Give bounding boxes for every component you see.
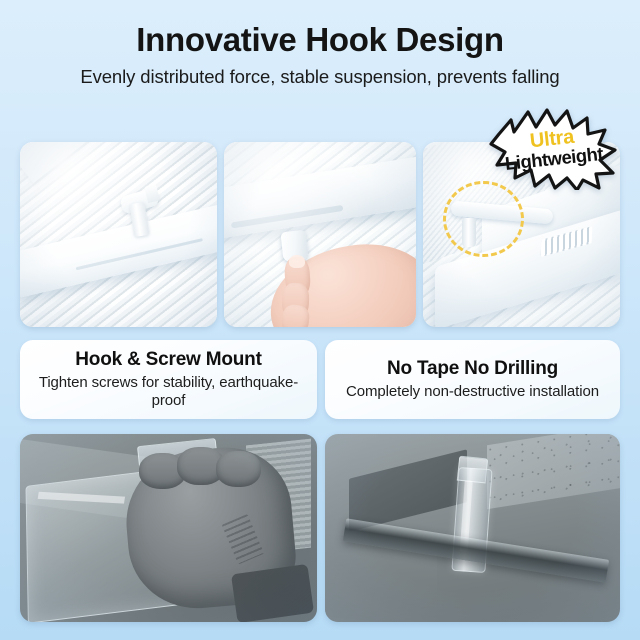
photo-clear-deflector-suspended-from-ceiling <box>325 434 620 622</box>
glove-branding-text <box>221 514 264 565</box>
feature-title: No Tape No Drilling <box>387 358 558 380</box>
ultra-lightweight-badge: Ultra Lightweight <box>489 108 617 190</box>
feature-description: Tighten screws for stability, earthquake… <box>28 374 309 409</box>
feature-description: Completely non-destructive installation <box>346 383 599 401</box>
photo-gloved-hand-holding-acrylic-deflector <box>20 434 317 622</box>
highlight-dashed-circle <box>443 181 524 257</box>
glove-knuckle <box>216 451 261 487</box>
fingernail <box>289 255 304 268</box>
photo-hand-installing-hook-screw <box>224 142 416 327</box>
page-subtitle: Evenly distributed force, stable suspens… <box>0 66 640 88</box>
photo-hook-mounted-on-ceiling-slats <box>20 142 217 327</box>
feature-title: Hook & Screw Mount <box>75 349 261 371</box>
feature-card-no-tape-no-drilling: No Tape No Drilling Completely non-destr… <box>325 340 620 419</box>
glove-cuff <box>231 564 314 622</box>
header: Innovative Hook Design Evenly distribute… <box>0 0 640 88</box>
starburst-icon <box>489 108 617 190</box>
feature-card-hook-screw-mount: Hook & Screw Mount Tighten screws for st… <box>20 340 317 419</box>
page-title: Innovative Hook Design <box>0 22 640 59</box>
